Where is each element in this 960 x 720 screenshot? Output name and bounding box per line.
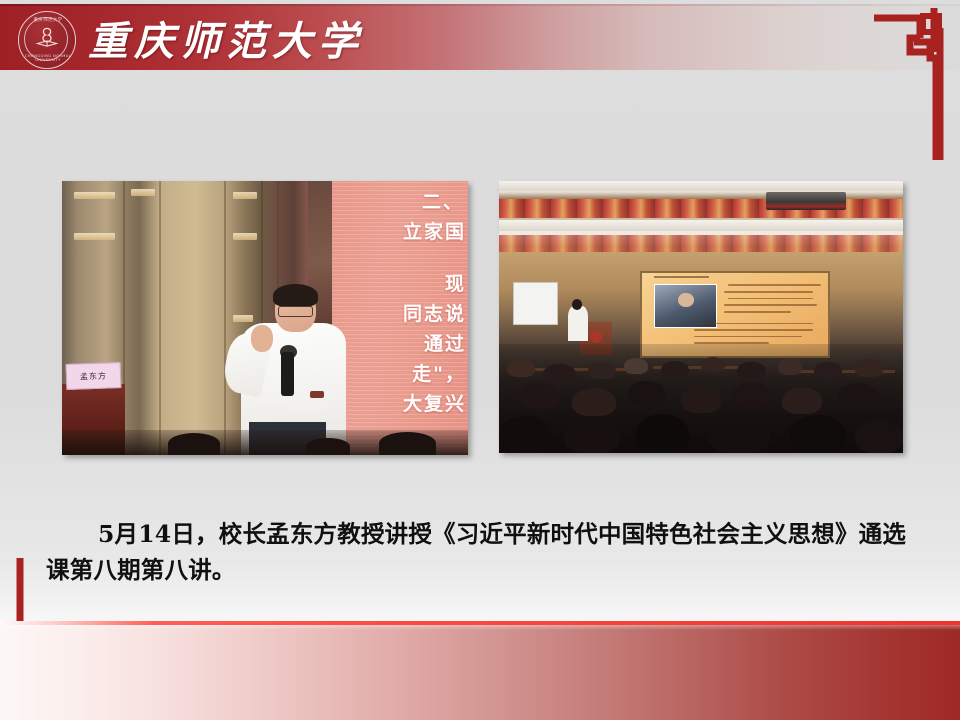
university-seal-icon: 重庆师范大学 CHONGQING NORMAL UNIVERSITY: [18, 11, 76, 69]
audience-head: [628, 381, 664, 405]
foreground-audience: [62, 430, 468, 455]
led-line: 大复兴: [332, 389, 466, 419]
seal-emblem-icon: [34, 25, 60, 51]
slide-text-line: [724, 291, 813, 293]
ceiling-rail: [499, 220, 903, 231]
seal-arc-top-text: 重庆师范大学: [19, 19, 77, 23]
audience-head: [588, 362, 616, 379]
audience-head: [499, 416, 552, 453]
lecturer-figure: [568, 306, 588, 341]
presentation-slide: 重庆师范大学 CHONGQING NORMAL UNIVERSITY 重庆师范大…: [0, 0, 960, 720]
led-line: 立家国: [332, 217, 466, 247]
led-line: 现: [332, 269, 466, 299]
ceiling-light: [233, 192, 257, 199]
slide-text-line: [724, 304, 817, 306]
portrait-head: [678, 293, 694, 307]
audience-head: [564, 420, 621, 453]
slide-text-line: [728, 284, 821, 286]
slide-portrait: [654, 284, 717, 327]
audience-head: [636, 414, 689, 453]
seal-arc-bottom-text: CHONGQING NORMAL UNIVERSITY: [19, 55, 77, 62]
led-line: 通过: [332, 329, 466, 359]
audience-head: [543, 364, 575, 384]
audience-head: [661, 361, 689, 378]
speaker-glasses: [278, 306, 313, 317]
led-screen: 二、 立家国 现 同志说 通过 走"， 大复兴: [332, 181, 468, 455]
ceiling-light: [74, 233, 115, 240]
audience-head: [306, 438, 351, 455]
led-gap: [332, 247, 466, 269]
ceiling-light: [233, 233, 257, 240]
slide-caption: 5月14日，校长孟东方教授讲授《习近平新时代中国特色社会主义思想》通选课第八期第…: [46, 516, 916, 588]
slide-header: 重庆师范大学 CHONGQING NORMAL UNIVERSITY 重庆师范大…: [0, 4, 960, 70]
audience-head: [782, 387, 822, 414]
slide-text-line: [728, 298, 814, 300]
photo-lecture-speaker: 二、 立家国 现 同志说 通过 走"， 大复兴 孟东方: [62, 181, 468, 455]
ceiling-light: [74, 192, 115, 199]
ceiling-light: [131, 189, 155, 196]
speaker-watch: [310, 391, 325, 398]
audience-head: [855, 359, 883, 376]
slide-text-line: [694, 329, 813, 331]
whiteboard: [513, 282, 557, 326]
slide-text-line: [694, 336, 802, 338]
audience-head: [507, 359, 535, 376]
audience-area: [499, 344, 903, 453]
slide-text-line: [698, 323, 813, 325]
photo-lecture-hall: [499, 181, 903, 453]
led-line: 走"，: [332, 359, 466, 389]
lectern-emblem-icon: [590, 331, 602, 343]
microphone: [281, 352, 294, 396]
audience-head: [701, 357, 725, 372]
audience-head: [790, 415, 847, 453]
speaker-nameplate: 孟东方: [66, 362, 122, 390]
audience-head: [519, 383, 559, 409]
speaker-hair: [273, 284, 318, 307]
speaker-hand: [251, 325, 273, 352]
header-top-rule: [0, 4, 960, 6]
ceiling-light: [233, 315, 253, 322]
wall-led-strip: [499, 235, 903, 251]
led-line: 二、: [332, 187, 466, 217]
audience-head: [681, 386, 721, 413]
led-line: 同志说: [332, 299, 466, 329]
wall-seam: [159, 181, 161, 455]
wall-seam: [224, 181, 226, 455]
audience-head: [737, 362, 765, 379]
audience-head: [733, 382, 769, 407]
audience-head: [709, 418, 770, 453]
slide-title-line: [654, 276, 710, 278]
audience-head: [168, 433, 221, 455]
audience-head: [379, 432, 436, 455]
audience-head: [624, 358, 648, 373]
hui-pattern-corner-icon-top-right: [874, 8, 946, 160]
ceiling-rail: [499, 181, 903, 191]
audience-head: [838, 383, 878, 409]
footer-highlight: [0, 625, 960, 630]
projector-mount: [766, 192, 847, 210]
audience-head: [814, 362, 842, 380]
university-name-title: 重庆师范大学: [88, 12, 364, 64]
led-screen-text: 二、 立家国 现 同志说 通过 走"， 大复兴: [332, 187, 468, 419]
audience-head: [855, 420, 903, 453]
slide-footer-band: [0, 621, 960, 720]
slide-text-line: [724, 311, 791, 313]
audience-head: [778, 358, 802, 374]
audience-head: [572, 388, 616, 416]
